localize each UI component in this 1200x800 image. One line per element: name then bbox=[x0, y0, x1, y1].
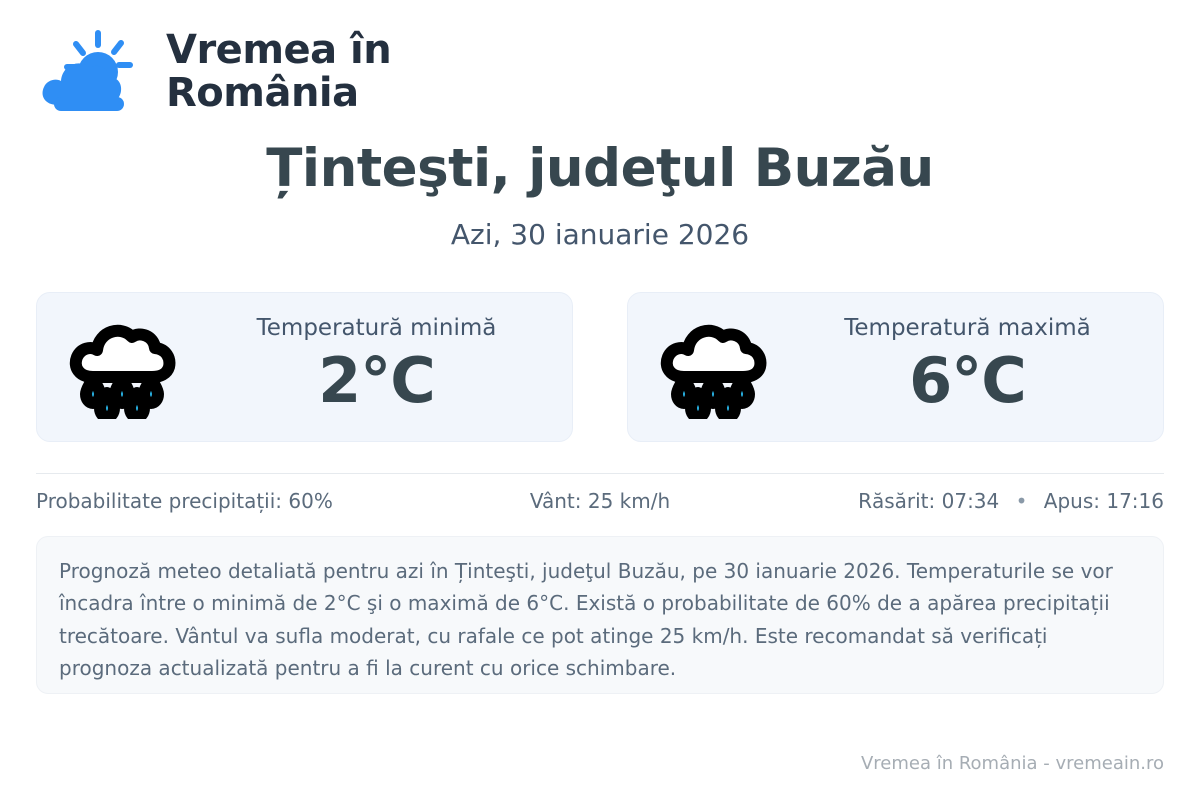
brand-name: Vremea în România bbox=[166, 29, 391, 115]
sunset-value: Apus: 17:16 bbox=[1044, 489, 1164, 513]
footer-credit: Vremea în România - vremeain.ro bbox=[861, 753, 1164, 774]
page-title: Ținteşti, judeţul Buzău bbox=[36, 140, 1164, 198]
weather-stats-row: Probabilitate precipitații: 60% Vânt: 25… bbox=[36, 474, 1164, 528]
sunrise-value: Răsărit: 07:34 bbox=[858, 489, 999, 513]
temperature-cards: Temperatură minimă 2°C Temp bbox=[36, 292, 1164, 442]
max-temperature-card: Temperatură maximă 6°C bbox=[627, 292, 1164, 442]
sun-behind-cloud-icon bbox=[36, 27, 146, 117]
forecast-description: Prognoză meteo detaliată pentru azi în Ț… bbox=[36, 536, 1164, 694]
weather-page: Vremea în România Ținteşti, judeţul Buză… bbox=[0, 0, 1200, 800]
wind-stat: Vânt: 25 km/h bbox=[412, 489, 788, 513]
precipitation-stat: Probabilitate precipitații: 60% bbox=[36, 489, 412, 513]
site-brand[interactable]: Vremea în România bbox=[36, 0, 1164, 96]
bullet-separator-icon: • bbox=[1016, 489, 1028, 513]
forecast-date: Azi, 30 ianuarie 2026 bbox=[36, 218, 1164, 252]
min-temperature-label: Temperatură minimă bbox=[257, 315, 497, 343]
max-temperature-value: 6°C bbox=[909, 345, 1026, 416]
sun-times-stat: Răsărit: 07:34 • Apus: 17:16 bbox=[788, 489, 1164, 513]
min-temperature-value: 2°C bbox=[318, 345, 435, 416]
max-temperature-label: Temperatură maximă bbox=[844, 315, 1090, 343]
rain-cloud-icon bbox=[654, 315, 772, 419]
min-temperature-card: Temperatură minimă 2°C bbox=[36, 292, 573, 442]
rain-cloud-icon bbox=[63, 315, 181, 419]
